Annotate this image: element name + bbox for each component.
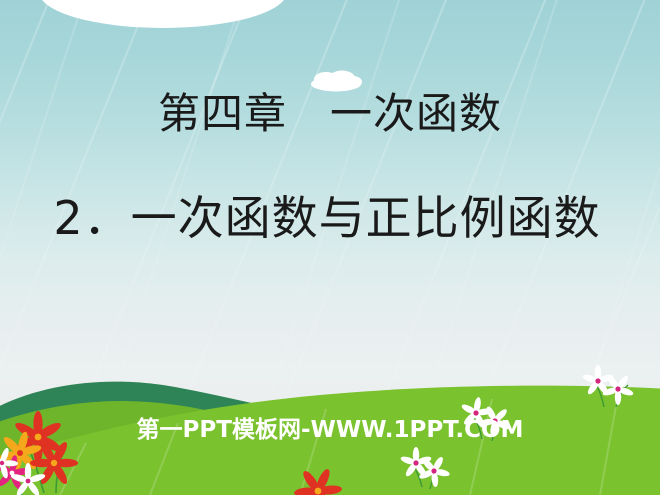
section-title: 2．一次函数与正比例函数 (0, 190, 660, 246)
watermark-text: 第一PPT模板网-WWW.1PPT.COM (0, 410, 660, 444)
presentation-slide: 第四章 一次函数 2．一次函数与正比例函数 第一PPT模板网-WWW.1PPT.… (0, 0, 660, 495)
cloud-icon (38, 0, 288, 38)
chapter-title: 第四章 一次函数 (0, 88, 660, 140)
